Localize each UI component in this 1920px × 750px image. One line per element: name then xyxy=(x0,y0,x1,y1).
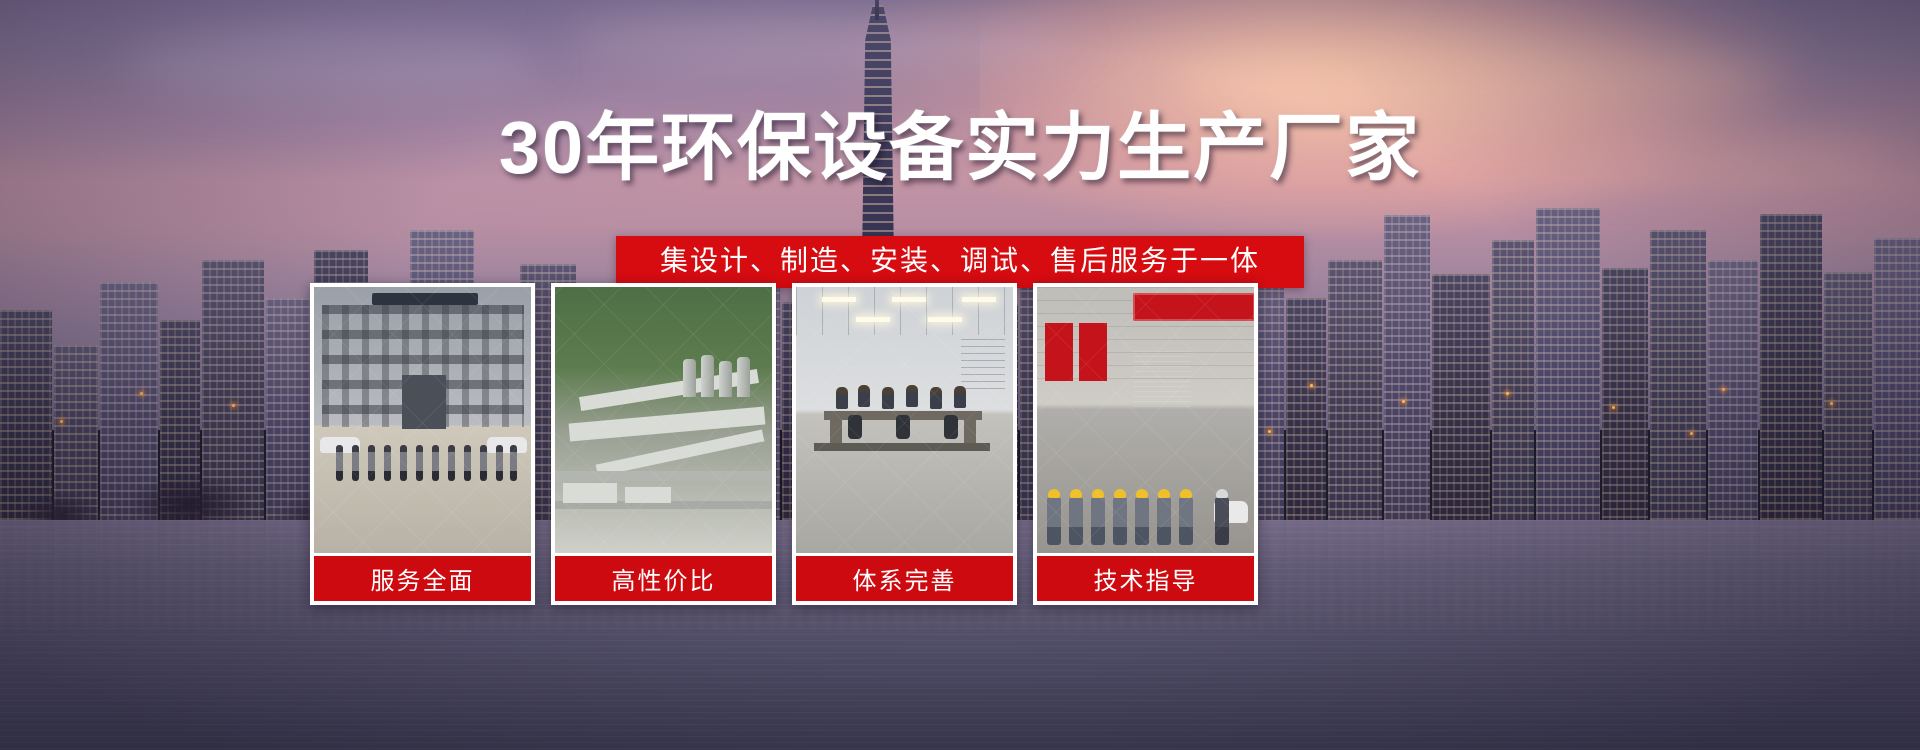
card-photo-workshop-workers xyxy=(1037,287,1254,553)
feature-card-list: 服务全面 xyxy=(310,283,1610,605)
card-label: 高性价比 xyxy=(555,553,772,601)
card-photo-office-interior xyxy=(796,287,1013,553)
hero-banner: 30年环保设备实力生产厂家 集设计、制造、安装、调试、售后服务于一体 xyxy=(0,0,1920,750)
feature-card[interactable]: 技术指导 xyxy=(1033,283,1258,605)
card-label: 技术指导 xyxy=(1037,553,1254,601)
feature-card[interactable]: 高性价比 xyxy=(551,283,776,605)
card-label: 服务全面 xyxy=(314,553,531,601)
banner-subtitle-container: 集设计、制造、安装、调试、售后服务于一体 xyxy=(0,236,1920,288)
banner-subtitle: 集设计、制造、安装、调试、售后服务于一体 xyxy=(616,236,1304,288)
card-photo-aerial-plant xyxy=(555,287,772,553)
feature-card[interactable]: 服务全面 xyxy=(310,283,535,605)
card-label: 体系完善 xyxy=(796,553,1013,601)
banner-headline: 30年环保设备实力生产厂家 xyxy=(0,100,1920,196)
feature-card[interactable]: 体系完善 xyxy=(792,283,1017,605)
card-photo-office-building xyxy=(314,287,531,553)
banner-content: 30年环保设备实力生产厂家 集设计、制造、安装、调试、售后服务于一体 xyxy=(0,0,1920,750)
